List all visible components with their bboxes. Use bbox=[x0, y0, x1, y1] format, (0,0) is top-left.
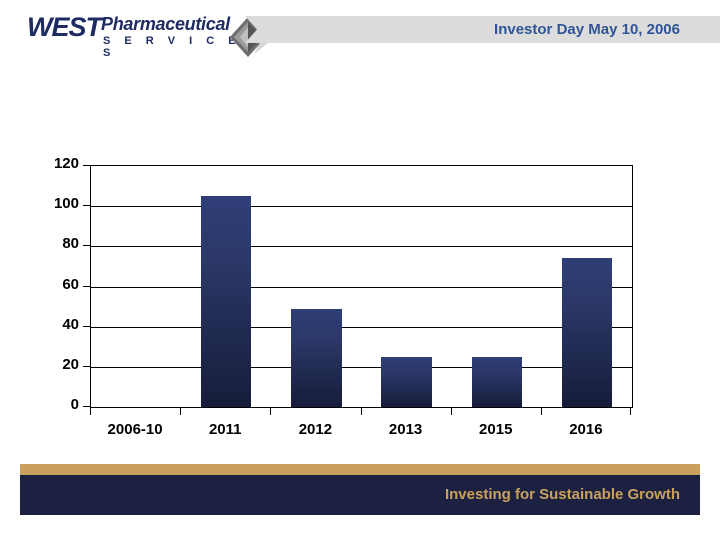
y-axis-tick-mark bbox=[83, 326, 90, 327]
y-axis-tick-label: 100 bbox=[17, 195, 79, 212]
bar-2016 bbox=[562, 258, 612, 407]
gridline bbox=[91, 327, 632, 328]
x-axis-tick-label: 2015 bbox=[451, 421, 541, 438]
y-axis-tick-mark bbox=[83, 245, 90, 246]
gridline bbox=[91, 206, 632, 207]
gridline bbox=[91, 367, 632, 368]
bar-chart: 020406080100120 2006-1020112012201320152… bbox=[0, 0, 720, 540]
y-axis-tick-mark bbox=[83, 406, 90, 407]
y-axis-tick-label: 120 bbox=[17, 155, 79, 172]
plot-area bbox=[90, 165, 633, 408]
y-axis-tick-label: 20 bbox=[17, 356, 79, 373]
x-axis: 2006-1020112012201320152016 bbox=[90, 407, 631, 457]
bar-2013 bbox=[381, 357, 431, 407]
x-axis-tick-mark bbox=[361, 407, 362, 415]
x-axis-tick-mark bbox=[180, 407, 181, 415]
footer-tagline: Investing for Sustainable Growth bbox=[445, 475, 700, 515]
x-axis-tick-label: 2011 bbox=[180, 421, 270, 438]
bar-2015 bbox=[472, 357, 522, 407]
bar-2012 bbox=[291, 309, 341, 407]
gridline bbox=[91, 287, 632, 288]
y-axis-tick-label: 40 bbox=[17, 316, 79, 333]
y-axis-tick-label: 0 bbox=[17, 396, 79, 413]
bar-2011 bbox=[201, 196, 251, 407]
y-axis-tick-label: 80 bbox=[17, 235, 79, 252]
x-axis-tick-label: 2012 bbox=[270, 421, 360, 438]
x-axis-tick-mark bbox=[451, 407, 452, 415]
x-axis-tick-mark bbox=[630, 407, 631, 415]
x-axis-tick-mark bbox=[541, 407, 542, 415]
y-axis-tick-mark bbox=[83, 286, 90, 287]
gridline bbox=[91, 246, 632, 247]
x-axis-tick-label: 2016 bbox=[541, 421, 631, 438]
y-axis-tick-label: 60 bbox=[17, 276, 79, 293]
x-axis-tick-label: 2006-10 bbox=[90, 421, 180, 438]
y-axis: 020406080100120 bbox=[0, 165, 90, 407]
footer-gold-rule bbox=[20, 464, 700, 475]
x-axis-tick-mark bbox=[270, 407, 271, 415]
x-axis-tick-label: 2013 bbox=[361, 421, 451, 438]
y-axis-tick-mark bbox=[83, 366, 90, 367]
x-axis-tick-mark bbox=[90, 407, 91, 415]
y-axis-tick-mark bbox=[83, 165, 90, 166]
y-axis-tick-mark bbox=[83, 205, 90, 206]
